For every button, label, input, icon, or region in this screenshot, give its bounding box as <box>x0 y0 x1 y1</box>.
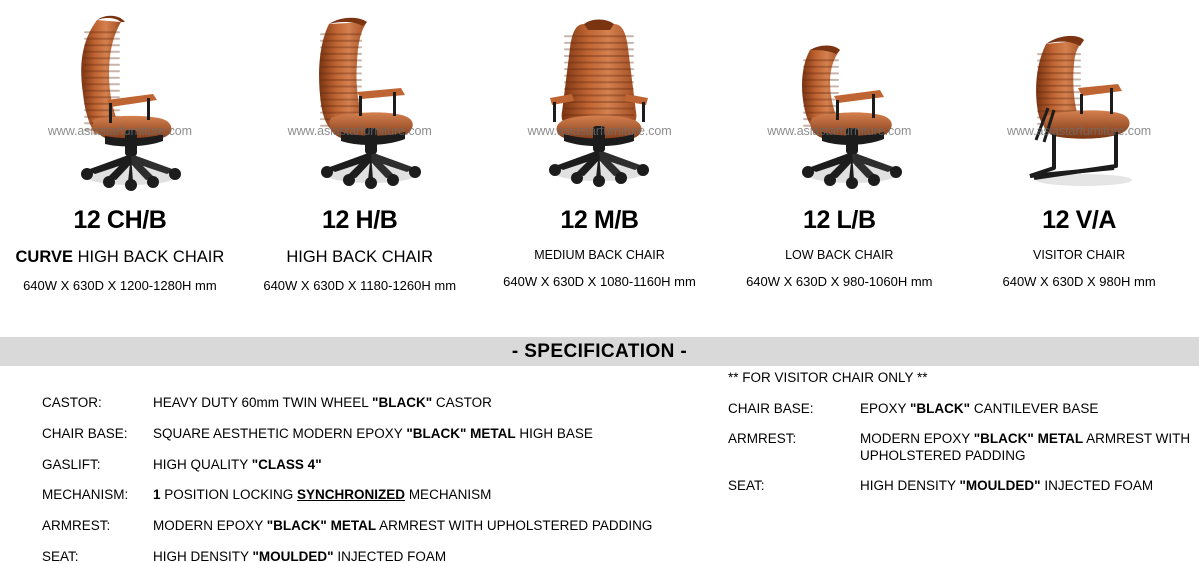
product-card[interactable]: www.asiastarfurniture.com 12 M/B MEDIUM … <box>480 4 720 305</box>
spec-label: CHAIR BASE: <box>42 425 153 442</box>
product-card[interactable]: www.asiastarfurniture.com 12 H/B HIGH BA… <box>240 4 480 305</box>
product-code: 12 L/B <box>803 208 876 233</box>
product-name: VISITOR CHAIR <box>1033 249 1125 262</box>
product-code: 12 CH/B <box>73 208 166 233</box>
product-image-12-m-b[interactable]: www.asiastarfurniture.com <box>480 4 720 196</box>
product-dimensions: 640W X 630D X 1180-1260H mm <box>263 279 456 292</box>
specification-column-standard: CASTOR: HEAVY DUTY 60mm TWIN WHEEL "BLAC… <box>0 366 720 563</box>
product-name: LOW BACK CHAIR <box>785 249 893 262</box>
product-row: www.asiastarfurniture.com 12 CH/B CURVE … <box>0 0 1199 305</box>
visitor-only-note: ** FOR VISITOR CHAIR ONLY ** <box>728 371 1199 385</box>
product-name: MEDIUM BACK CHAIR <box>534 249 665 262</box>
product-catalog-page: www.asiastarfurniture.com 12 CH/B CURVE … <box>0 0 1199 563</box>
spec-row: SEAT: HIGH DENSITY "MOULDED" INJECTED FO… <box>728 477 1199 494</box>
spec-label: SEAT: <box>728 477 860 494</box>
spec-row: CASTOR: HEAVY DUTY 60mm TWIN WHEEL "BLAC… <box>42 394 720 411</box>
product-image-12-l-b[interactable]: www.asiastarfurniture.com <box>719 4 959 196</box>
spec-label: GASLIFT: <box>42 456 153 473</box>
spec-label: MECHANISM: <box>42 486 153 503</box>
spec-row: GASLIFT: HIGH QUALITY "CLASS 4" <box>42 456 720 473</box>
product-code: 12 V/A <box>1042 208 1116 233</box>
product-dimensions: 640W X 630D X 980-1060H mm <box>746 275 932 288</box>
spec-label: ARMREST: <box>42 517 153 534</box>
spec-label: ARMREST: <box>728 430 860 447</box>
spec-label: CHAIR BASE: <box>728 400 860 417</box>
product-dimensions: 640W X 630D X 980H mm <box>1002 275 1155 288</box>
product-name: CURVE HIGH BACK CHAIR <box>16 249 225 266</box>
spec-value: HIGH QUALITY "CLASS 4" <box>153 456 322 473</box>
specification-band: - SPECIFICATION - <box>0 337 1199 366</box>
spec-row: CHAIR BASE: EPOXY "BLACK" CANTILEVER BAS… <box>728 400 1199 417</box>
spec-value: SQUARE AESTHETIC MODERN EPOXY "BLACK" ME… <box>153 425 593 442</box>
spec-row: SEAT: HIGH DENSITY "MOULDED" INJECTED FO… <box>42 548 720 563</box>
product-dimensions: 640W X 630D X 1080-1160H mm <box>503 275 696 288</box>
specification-title: - SPECIFICATION - <box>512 341 687 363</box>
product-image-12-ch-b[interactable]: www.asiastarfurniture.com <box>0 4 240 196</box>
product-name: HIGH BACK CHAIR <box>286 249 433 266</box>
product-dimensions: 640W X 630D X 1200-1280H mm <box>23 279 217 292</box>
specification-section: CASTOR: HEAVY DUTY 60mm TWIN WHEEL "BLAC… <box>0 366 1199 563</box>
spec-value: 1 POSITION LOCKING SYNCHRONIZED MECHANIS… <box>153 486 491 503</box>
spec-value: HIGH DENSITY "MOULDED" INJECTED FOAM <box>153 548 446 563</box>
product-card[interactable]: www.asiastarfurniture.com 12 CH/B CURVE … <box>0 4 240 305</box>
spec-label: SEAT: <box>42 548 153 563</box>
product-card[interactable]: www.asiastarfurniture.com 12 L/B LOW BAC… <box>719 4 959 305</box>
spec-value: MODERN EPOXY "BLACK" METAL ARMREST WITH … <box>860 430 1199 465</box>
specification-column-visitor: ** FOR VISITOR CHAIR ONLY ** CHAIR BASE:… <box>720 366 1199 563</box>
spec-row: MECHANISM: 1 POSITION LOCKING SYNCHRONIZ… <box>42 486 720 503</box>
spec-row: CHAIR BASE: SQUARE AESTHETIC MODERN EPOX… <box>42 425 720 442</box>
product-card[interactable]: www.asiastarfurniture.com 12 V/A VISITOR… <box>959 4 1199 305</box>
spec-row: ARMREST: MODERN EPOXY "BLACK" METAL ARMR… <box>42 517 720 534</box>
product-code: 12 H/B <box>322 208 397 233</box>
spec-value: MODERN EPOXY "BLACK" METAL ARMREST WITH … <box>153 517 652 534</box>
spec-value: HIGH DENSITY "MOULDED" INJECTED FOAM <box>860 477 1153 494</box>
spec-label: CASTOR: <box>42 394 153 411</box>
product-image-12-h-b[interactable]: www.asiastarfurniture.com <box>240 4 480 196</box>
spec-value: EPOXY "BLACK" CANTILEVER BASE <box>860 400 1098 417</box>
product-image-12-v-a[interactable]: www.asiastarfurniture.com <box>959 4 1199 196</box>
spec-row: ARMREST: MODERN EPOXY "BLACK" METAL ARMR… <box>728 430 1199 465</box>
product-code: 12 M/B <box>560 208 638 233</box>
spec-value: HEAVY DUTY 60mm TWIN WHEEL "BLACK" CASTO… <box>153 394 492 411</box>
